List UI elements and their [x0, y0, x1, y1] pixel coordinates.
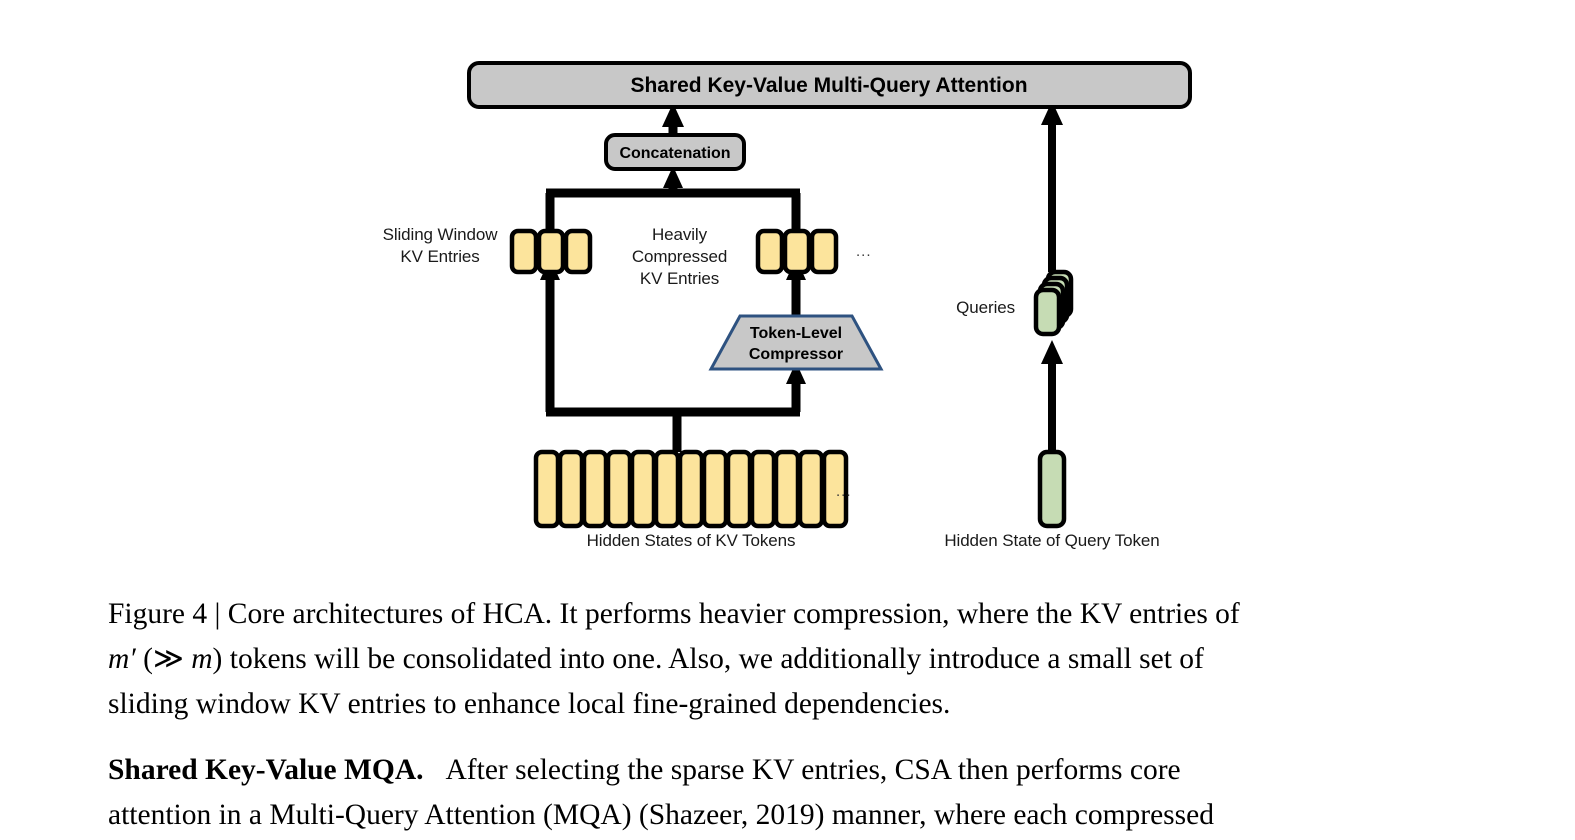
hidden-state-token-block	[536, 452, 558, 526]
hidden-state-token-block	[776, 452, 798, 526]
hidden-state-token-block	[704, 452, 726, 526]
kv-block	[566, 231, 590, 272]
concatenation-box-label: Concatenation	[619, 145, 730, 162]
token-level-compressor[interactable]: Token-Level Compressor	[711, 316, 881, 369]
hidden-state-token-block	[656, 452, 678, 526]
body-paragraph: Shared Key-Value MQA.After selecting the…	[108, 748, 1473, 838]
body-paragraph-line-1-text: After selecting the sparse KV entries, C…	[446, 754, 1181, 786]
kv-block	[812, 231, 836, 272]
hidden-state-token-block	[584, 452, 606, 526]
caption-paren-open: (≫	[136, 643, 191, 675]
query-token-block	[1040, 452, 1064, 526]
caption-line-1-text: Figure 4 | Core architectures of HCA. It…	[108, 592, 1240, 637]
kv-block	[785, 231, 809, 272]
label-sliding-window-kv-entries: Sliding Window KV Entries	[370, 224, 510, 268]
kv-block	[512, 231, 536, 272]
body-paragraph-line-1-inner: Shared Key-Value MQA.After selecting the…	[108, 748, 1181, 793]
hidden-state-token-block	[680, 452, 702, 526]
hidden-state-token-block	[752, 452, 774, 526]
queries-stack[interactable]	[1036, 272, 1071, 334]
kv-block	[539, 231, 563, 272]
hidden-state-token-block	[728, 452, 750, 526]
label-hidden-state-of-query-token: Hidden State of Query Token	[902, 530, 1202, 552]
figure-diagram: Shared Key-Value Multi-Query Attention C…	[0, 0, 1575, 570]
caption-var-m: m	[191, 643, 212, 675]
compressed-kv-blocks[interactable]	[758, 231, 836, 272]
ellipsis-hidden-states: ...	[836, 483, 852, 500]
label-heavily-compressed-kv-entries: Heavily Compressed KV Entries	[612, 224, 747, 290]
token-level-compressor-label-line1: Token-Level	[750, 325, 842, 342]
caption-line-1: Figure 4 | Core architectures of HCA. It…	[108, 592, 1473, 637]
token-level-compressor-label-line2: Compressor	[749, 346, 843, 363]
hidden-state-token-block	[608, 452, 630, 526]
architecture-diagram-svg: Shared Key-Value Multi-Query Attention C…	[0, 0, 1575, 570]
hidden-state-query-token-block[interactable]	[1040, 452, 1064, 526]
kv-block	[758, 231, 782, 272]
figure-caption: Figure 4 | Core architectures of HCA. It…	[108, 592, 1473, 727]
caption-line-2: m′ (≫ m) tokens will be consolidated int…	[108, 637, 1473, 682]
query-stack-layer	[1036, 290, 1059, 334]
sliding-window-kv-blocks[interactable]	[512, 231, 590, 272]
hidden-state-token-block	[800, 452, 822, 526]
label-queries: Queries	[930, 297, 1015, 319]
caption-line-2-rest: ) tokens will be consolidated into one. …	[213, 643, 1204, 675]
caption-line-3: sliding window KV entries to enhance loc…	[108, 682, 1473, 727]
label-hidden-states-of-kv-tokens: Hidden States of KV Tokens	[541, 530, 841, 552]
body-paragraph-line-2: attention in a Multi-Query Attention (MQ…	[108, 793, 1473, 838]
hidden-state-token-block	[560, 452, 582, 526]
body-paragraph-line-2-text: attention in a Multi-Query Attention (MQ…	[108, 793, 1214, 838]
body-paragraph-lead: Shared Key-Value MQA.	[108, 754, 424, 786]
shared-kv-mqa-bar[interactable]: Shared Key-Value Multi-Query Attention	[469, 63, 1190, 107]
hidden-state-kv-token-row[interactable]	[536, 452, 846, 526]
body-paragraph-line-1: Shared Key-Value MQA.After selecting the…	[108, 748, 1473, 793]
caption-line-2-text: m′ (≫ m) tokens will be consolidated int…	[108, 637, 1204, 682]
arrowhead-queries	[1041, 340, 1063, 364]
hidden-state-token-block	[632, 452, 654, 526]
caption-var-m-prime: m′	[108, 643, 136, 675]
ellipsis-compressed-kv: ...	[856, 243, 872, 260]
shared-kv-mqa-bar-label: Shared Key-Value Multi-Query Attention	[630, 74, 1027, 97]
concatenation-box[interactable]: Concatenation	[606, 135, 744, 169]
